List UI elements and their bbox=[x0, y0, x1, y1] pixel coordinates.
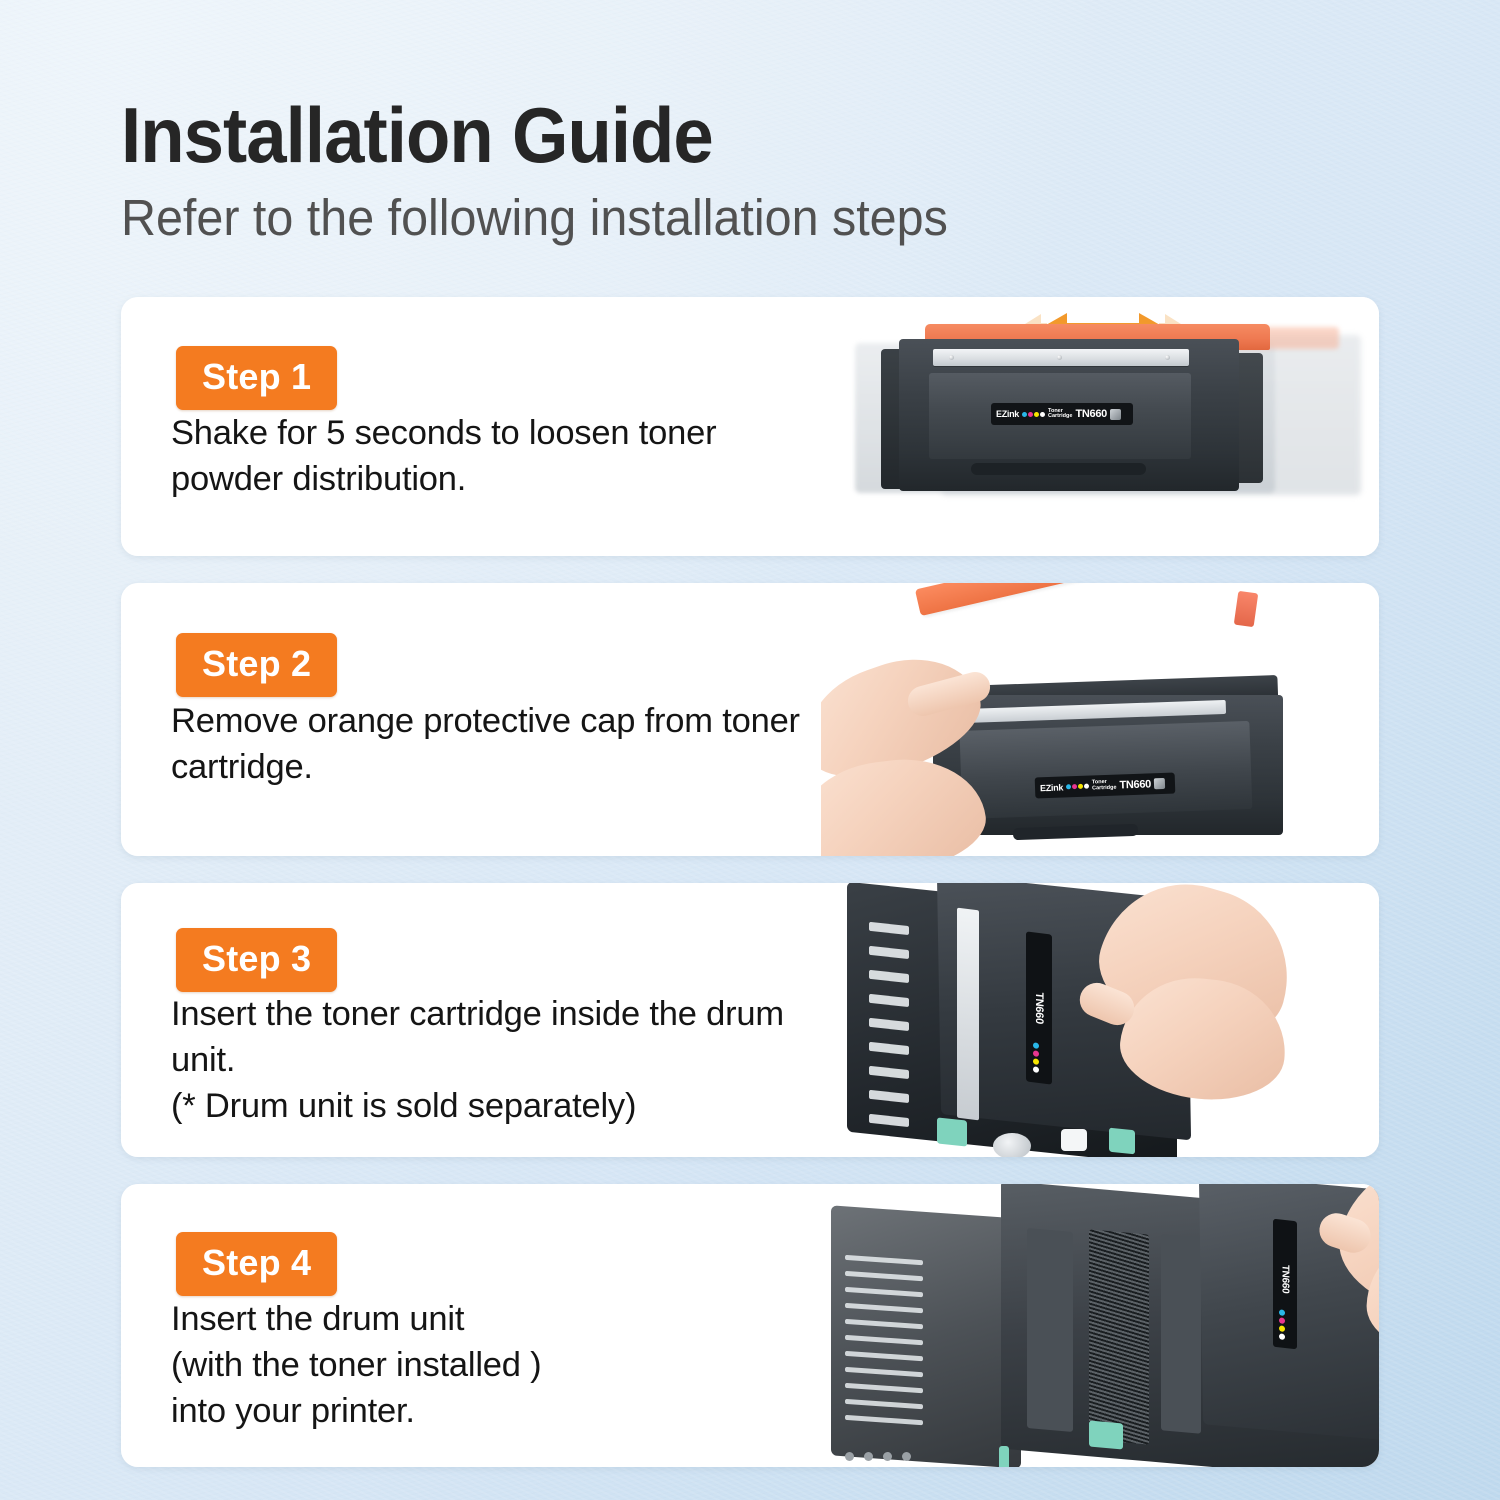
cartridge-front-face bbox=[959, 721, 1252, 819]
page-title: Installation Guide bbox=[121, 95, 1293, 176]
label-model: TN660 bbox=[1075, 408, 1107, 420]
installation-guide-page: Installation Guide Refer to the followin… bbox=[0, 0, 1500, 1500]
step-3-illustration: TN660 bbox=[821, 883, 1379, 1157]
printer-vents bbox=[845, 1251, 935, 1437]
printer-indicator-lights bbox=[845, 1452, 911, 1461]
page-subtitle: Refer to the following installation step… bbox=[121, 190, 1318, 245]
label-model: TN660 bbox=[1033, 991, 1045, 1024]
step-1-text-column: Step 1 Shake for 5 seconds to loosen ton… bbox=[121, 297, 821, 556]
step-3-badge: Step 3 bbox=[176, 928, 337, 992]
product-label: TN660 bbox=[1273, 1219, 1297, 1350]
drum-white-gear bbox=[1061, 1129, 1087, 1151]
step-1-description: Shake for 5 seconds to loosen toner powd… bbox=[171, 410, 821, 502]
drum-teal-tab bbox=[1089, 1421, 1123, 1450]
brand-name: EZink bbox=[996, 409, 1019, 419]
steps-list: Step 1 Shake for 5 seconds to loosen ton… bbox=[121, 297, 1379, 1467]
orange-protective-cap-removed bbox=[915, 583, 1243, 616]
label-model: TN660 bbox=[1119, 778, 1151, 791]
step-3-description: Insert the toner cartridge inside the dr… bbox=[171, 991, 821, 1130]
step-card-2[interactable]: Step 2 Remove orange protective cap from… bbox=[121, 583, 1379, 856]
drum-roller bbox=[993, 1133, 1031, 1157]
step-2-badge: Step 2 bbox=[176, 633, 337, 697]
header: Installation Guide Refer to the followin… bbox=[121, 95, 1381, 245]
label-chip-icon bbox=[1154, 778, 1165, 789]
step-card-3[interactable]: Step 3 Insert the toner cartridge inside… bbox=[121, 883, 1379, 1157]
step-1-badge: Step 1 bbox=[176, 346, 337, 410]
cmyk-dots-icon bbox=[1066, 784, 1089, 790]
step-4-description: Insert the drum unit (with the toner ins… bbox=[171, 1296, 541, 1435]
step-4-badge: Step 4 bbox=[176, 1232, 337, 1296]
label-line-2: Cartridge bbox=[1048, 414, 1072, 420]
step-2-illustration: EZink Toner Cartridge TN660 bbox=[821, 583, 1379, 856]
step-2-description: Remove orange protective cap from toner … bbox=[171, 698, 821, 790]
cmyk-dots-icon bbox=[1279, 1309, 1285, 1340]
step-3-text-column: Step 3 Insert the toner cartridge inside… bbox=[121, 883, 821, 1157]
label-line-2: Cartridge bbox=[1092, 785, 1117, 791]
bay-ridge-2 bbox=[1161, 1234, 1201, 1433]
label-chip-icon bbox=[1110, 409, 1121, 420]
step-2-text-column: Step 2 Remove orange protective cap from… bbox=[121, 583, 821, 856]
cartridge-handle bbox=[971, 463, 1146, 475]
step-4-illustration: TN660 bbox=[821, 1184, 1379, 1467]
cartridge-metal-bar bbox=[933, 349, 1189, 366]
brand-name: EZink bbox=[1040, 782, 1063, 793]
bay-mesh bbox=[1089, 1229, 1149, 1444]
step-card-1[interactable]: Step 1 Shake for 5 seconds to loosen ton… bbox=[121, 297, 1379, 556]
product-label: EZink Toner Cartridge TN660 bbox=[991, 403, 1133, 425]
product-label: TN660 bbox=[1026, 931, 1052, 1084]
step-4-text-column: Step 4 Insert the drum unit (with the to… bbox=[121, 1184, 821, 1467]
drum-teal-tab-edge bbox=[999, 1446, 1009, 1467]
cmyk-dots-icon bbox=[1033, 1042, 1039, 1073]
step-1-illustration: EZink Toner Cartridge TN660 bbox=[821, 297, 1379, 556]
cartridge-metal-strip bbox=[957, 908, 979, 1121]
bay-ridge-1 bbox=[1027, 1228, 1073, 1432]
cmyk-dots-icon bbox=[1022, 412, 1045, 417]
drum-teal-tab-right bbox=[1109, 1128, 1135, 1155]
drum-unit-ribs bbox=[859, 915, 939, 1137]
step-card-4[interactable]: Step 4 Insert the drum unit (with the to… bbox=[121, 1184, 1379, 1467]
drum-teal-tab-left bbox=[937, 1117, 967, 1146]
label-model: TN660 bbox=[1280, 1264, 1291, 1294]
cap-tip bbox=[1234, 591, 1259, 627]
